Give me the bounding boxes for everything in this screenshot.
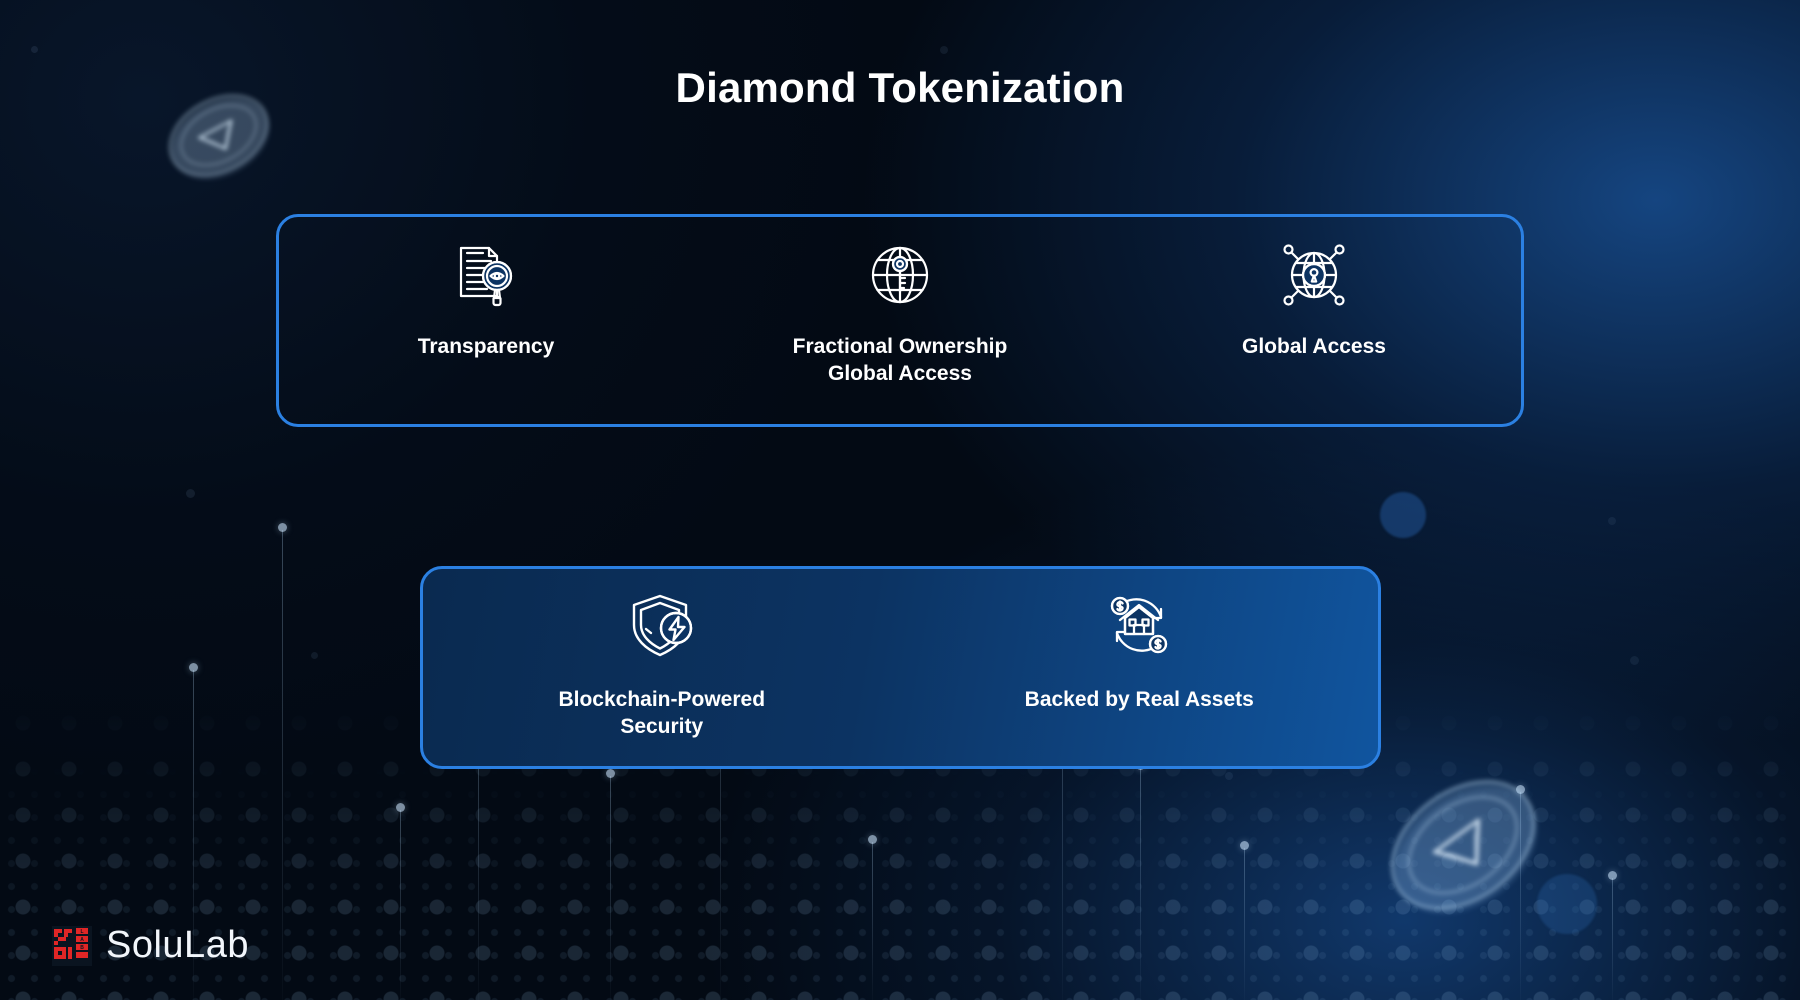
- feature-cell-fractional-ownership[interactable]: Fractional Ownership Global Access: [693, 217, 1107, 387]
- shield-lightning-icon: [626, 589, 698, 661]
- background-decorations: [0, 0, 1800, 1000]
- feature-label: Transparency: [418, 334, 555, 361]
- brand-logo[interactable]: L A B SoluLab: [52, 924, 249, 967]
- bokeh-blob: [1537, 874, 1597, 934]
- spark-dot: [186, 489, 195, 498]
- diamond-coin-bottom-right: [1368, 750, 1558, 940]
- globe-lock-network-icon: [1279, 239, 1349, 311]
- feature-cell-transparency[interactable]: Transparency: [279, 217, 693, 361]
- slide-canvas: Diamond Tokenization: [0, 0, 1800, 1000]
- solulab-logo-mark: L A B: [52, 926, 92, 966]
- features-row-one-card: Transparency: [276, 214, 1524, 427]
- pin-line: [610, 776, 611, 1000]
- feature-label: Fractional Ownership Global Access: [793, 334, 1008, 387]
- pin-line: [400, 810, 401, 1000]
- spark-dot: [31, 46, 38, 53]
- pin-line: [872, 842, 873, 1000]
- spark-dot: [1608, 517, 1616, 525]
- globe-key-icon: [865, 239, 935, 311]
- spark-dot: [1225, 772, 1233, 780]
- pin-line: [1520, 792, 1521, 1000]
- brand-name: SoluLab: [106, 924, 249, 967]
- pin-line: [1612, 878, 1613, 1000]
- spark-dot: [311, 652, 318, 659]
- pin-line: [1140, 768, 1141, 1000]
- bokeh-blob: [1380, 492, 1426, 538]
- feature-cell-global-access[interactable]: Global Access: [1107, 217, 1521, 361]
- svg-text:A: A: [80, 937, 84, 943]
- svg-text:B: B: [80, 945, 84, 951]
- svg-text:L: L: [80, 929, 83, 935]
- page-title: Diamond Tokenization: [0, 64, 1800, 112]
- feature-cell-backed-real-assets[interactable]: Backed by Real Assets: [901, 569, 1379, 714]
- bokeh-dot-grid-fine: [0, 760, 1800, 1000]
- spark-dot: [940, 46, 948, 54]
- house-dollar-cycle-icon: [1103, 589, 1175, 661]
- features-row-two-card: Blockchain-Powered Security: [420, 566, 1381, 769]
- document-magnifier-eye-icon: [451, 239, 521, 311]
- feature-label: Global Access: [1242, 334, 1386, 361]
- feature-label: Backed by Real Assets: [1025, 687, 1254, 714]
- pin-line: [1244, 848, 1245, 1000]
- feature-cell-blockchain-security[interactable]: Blockchain-Powered Security: [423, 569, 901, 740]
- pin-line: [282, 530, 283, 1000]
- feature-label: Blockchain-Powered Security: [558, 687, 765, 740]
- spark-dot: [1630, 656, 1639, 665]
